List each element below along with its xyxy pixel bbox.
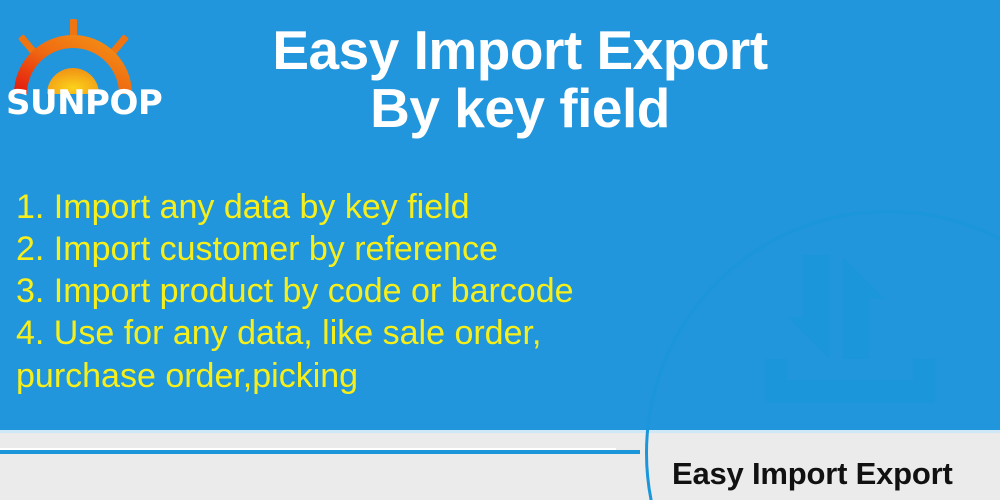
list-item: 3. Import product by code or barcode <box>16 270 706 312</box>
list-item: 2. Import customer by reference <box>16 228 706 270</box>
promo-banner: SUNPOP Easy Import Export By key field 1… <box>0 0 1000 500</box>
tray-base-shape <box>765 359 935 403</box>
bottom-rule-highlight <box>0 448 616 450</box>
bottom-rule <box>0 450 640 454</box>
sunpop-wordmark: SUNPOP <box>6 86 162 120</box>
list-item: 4. Use for any data, like sale order, pu… <box>16 312 706 396</box>
title-line-1: Easy Import Export <box>272 19 767 81</box>
feature-list: 1. Import any data by key field 2. Impor… <box>16 186 706 397</box>
page-title: Easy Import Export By key field <box>170 22 870 138</box>
badge-caption: Easy Import Export <box>672 456 953 492</box>
arrow-down-shape <box>787 255 829 359</box>
list-item: 1. Import any data by key field <box>16 186 706 228</box>
arrow-up-shape <box>843 257 885 359</box>
import-export-arrows-icon <box>765 255 945 420</box>
title-line-2: By key field <box>170 80 870 138</box>
